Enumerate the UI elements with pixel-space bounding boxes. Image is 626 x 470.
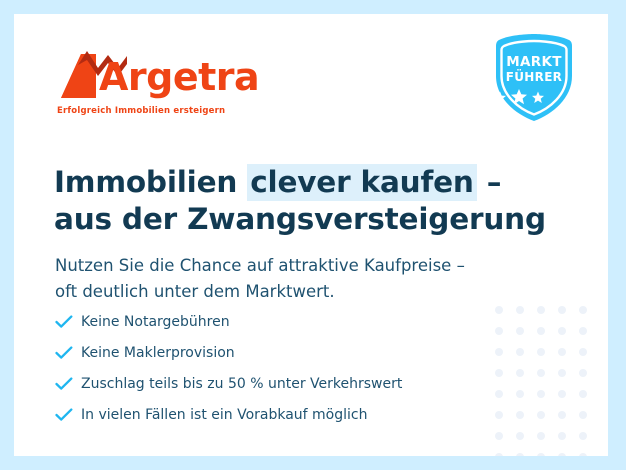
check-icon xyxy=(55,377,81,391)
decorative-dot xyxy=(537,453,545,457)
decorative-dot xyxy=(579,348,587,356)
check-icon xyxy=(55,346,81,360)
star-icon xyxy=(494,92,506,104)
headline-highlight: clever kaufen xyxy=(247,164,476,201)
decorative-dot xyxy=(579,411,587,419)
benefit-checklist: Keine Notargebühren Keine Maklerprovisio… xyxy=(55,306,525,430)
list-item: Keine Notargebühren xyxy=(55,306,525,337)
decorative-dot xyxy=(516,432,524,440)
star-icon xyxy=(532,92,544,104)
headline-text-after: – xyxy=(477,165,502,199)
decorative-dot xyxy=(558,432,566,440)
list-item-label: Zuschlag teils bis zu 50 % unter Verkehr… xyxy=(81,375,402,393)
list-item: Zuschlag teils bis zu 50 % unter Verkehr… xyxy=(55,368,525,399)
badge-stars xyxy=(491,89,577,105)
decorative-dot xyxy=(537,348,545,356)
decorative-dot xyxy=(537,369,545,377)
decorative-dot xyxy=(537,327,545,335)
argetra-logo[interactable]: Argetra Erfolgreich Immobilien ersteiger… xyxy=(56,46,246,122)
list-item: In vielen Fällen ist ein Vorabkauf mögli… xyxy=(55,399,525,430)
list-item-label: Keine Notargebühren xyxy=(81,313,230,331)
decorative-dot xyxy=(558,369,566,377)
decorative-dot xyxy=(495,432,503,440)
subheadline-line-2: oft deutlich unter dem Marktwert. xyxy=(55,279,575,305)
decorative-dot xyxy=(579,306,587,314)
decorative-dot xyxy=(579,327,587,335)
decorative-dot xyxy=(537,411,545,419)
check-icon xyxy=(55,408,81,422)
subheadline-line-1: Nutzen Sie die Chance auf attraktive Kau… xyxy=(55,253,575,279)
list-item-label: In vielen Fällen ist ein Vorabkauf mögli… xyxy=(81,406,368,424)
decorative-dot xyxy=(558,348,566,356)
decorative-dot xyxy=(579,453,587,457)
decorative-dot xyxy=(537,306,545,314)
promo-banner: Argetra Erfolgreich Immobilien ersteiger… xyxy=(0,0,626,470)
check-icon xyxy=(55,315,81,329)
decorative-dot xyxy=(495,453,503,457)
headline-line-1: Immobilien clever kaufen – xyxy=(54,164,574,201)
decorative-dot xyxy=(579,369,587,377)
market-leader-badge: MARKT FÜHRER xyxy=(491,32,577,124)
headline: Immobilien clever kaufen – aus der Zwang… xyxy=(54,164,574,238)
star-icon xyxy=(511,89,527,104)
decorative-dot xyxy=(579,432,587,440)
logo-wordmark: Argetra xyxy=(99,55,259,99)
headline-text-before: Immobilien xyxy=(54,165,247,199)
list-item-label: Keine Maklerprovision xyxy=(81,344,235,362)
decorative-dot xyxy=(558,411,566,419)
subheadline: Nutzen Sie die Chance auf attraktive Kau… xyxy=(55,253,575,305)
list-item: Keine Maklerprovision xyxy=(55,337,525,368)
decorative-dot xyxy=(558,453,566,457)
decorative-dot xyxy=(516,453,524,457)
decorative-dot xyxy=(558,306,566,314)
logo-tagline: Erfolgreich Immobilien ersteigern xyxy=(57,106,225,116)
decorative-dot xyxy=(537,390,545,398)
content-card: Argetra Erfolgreich Immobilien ersteiger… xyxy=(14,14,608,456)
decorative-dot xyxy=(558,390,566,398)
decorative-dot xyxy=(537,432,545,440)
decorative-dot xyxy=(579,390,587,398)
headline-line-2: aus der Zwangsversteigerung xyxy=(54,201,574,238)
decorative-dot xyxy=(558,327,566,335)
shield-badge-icon xyxy=(491,32,577,124)
